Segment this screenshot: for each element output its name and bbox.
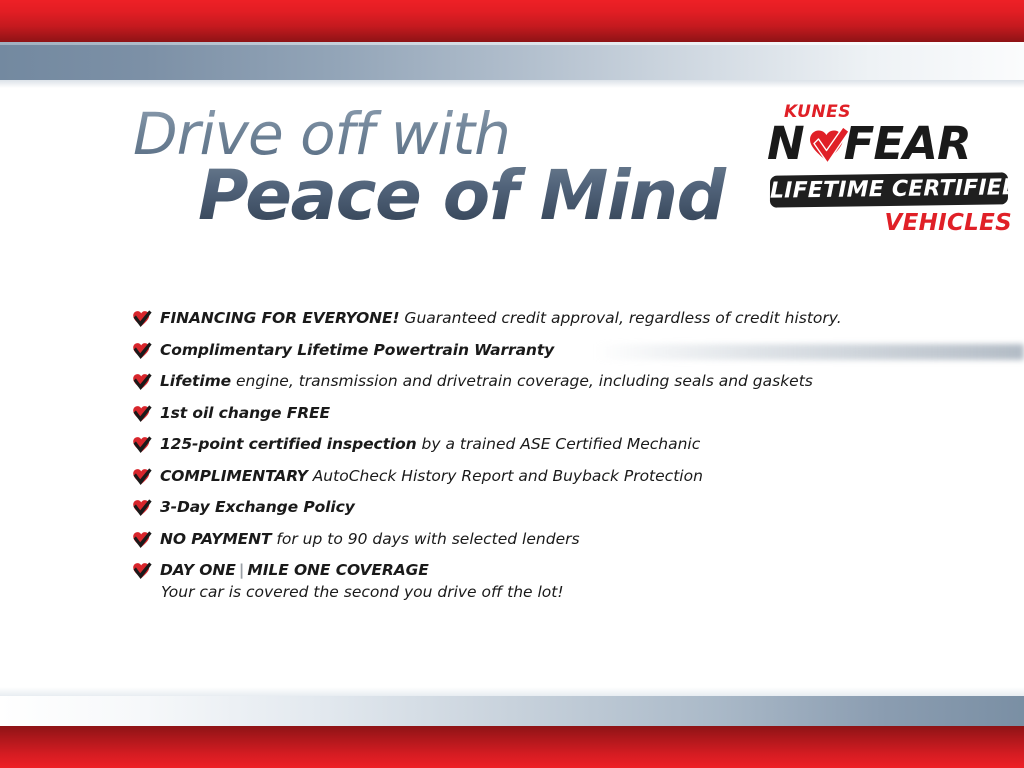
list-item: NO PAYMENT for up to 90 days with select… [131,529,931,551]
top-red-band [0,0,1024,42]
list-item: COMPLIMENTARY AutoCheck History Report a… [131,466,931,488]
list-item-day-one-body: DAY ONE|MILE ONE COVERAGE Your car is co… [160,560,564,603]
logo-wordmark: N FEAR [767,120,971,168]
list-item: Lifetime engine, transmission and drivet… [131,371,931,393]
list-item-normal: by a trained ASE Certified Mechanic [417,435,701,453]
list-item-bold: NO PAYMENT [160,530,271,548]
heart-check-bullet-icon [131,498,153,519]
heart-check-bullet-icon [131,435,153,456]
day-one-separator: | [236,561,248,579]
list-item-text: FINANCING FOR EVERYONE! Guaranteed credi… [160,308,842,329]
list-item-text: COMPLIMENTARY AutoCheck History Report a… [160,466,703,487]
list-item-text: NO PAYMENT for up to 90 days with select… [160,529,580,550]
list-item-normal: engine, transmission and drivetrain cove… [231,372,813,390]
list-item-bold: 125-point certified inspection [160,435,417,453]
list-item: 1st oil change FREE [131,403,931,425]
logo-certified-banner-text: LIFETIME CERTIFIED [770,172,1008,207]
list-item-bold: 1st oil change FREE [160,404,330,422]
logo-letter-n: N [767,120,804,168]
logo-word-vehicles: VEHICLES [884,210,1012,236]
heart-check-icon [802,123,852,173]
list-item-text: 125-point certified inspection by a trai… [160,434,700,455]
mile-one-label: MILE ONE COVERAGE [247,561,428,579]
list-item-text: Complimentary Lifetime Powertrain Warran… [160,340,554,361]
day-one-subtext: Your car is covered the second you drive… [161,582,564,603]
bottom-gray-gradient-band [0,696,1024,726]
list-item-normal: Guaranteed credit approval, regardless o… [400,309,842,327]
list-item-text: DAY ONE|MILE ONE COVERAGE [160,560,564,581]
day-one-label: DAY ONE [160,561,236,579]
list-item-text: Lifetime engine, transmission and drivet… [160,371,813,392]
bottom-red-band [0,726,1024,768]
heart-check-bullet-icon [131,467,153,488]
benefits-list: FINANCING FOR EVERYONE! Guaranteed credi… [131,308,931,613]
headline-line-1: Drive off with [133,104,753,164]
top-gray-gradient-band [0,42,1024,80]
list-item-normal: for up to 90 days with selected lenders [271,530,579,548]
top-band-fade [0,80,1024,88]
page-title: Drive off with Peace of Mind [133,104,753,234]
logo-o-slot [804,121,848,165]
list-item-text: 3-Day Exchange Policy [160,497,355,518]
list-item-bold: Complimentary Lifetime Powertrain Warran… [160,341,554,359]
headline-line-2: Peace of Mind [198,158,753,234]
list-item-bold: FINANCING FOR EVERYONE! [160,309,400,327]
heart-check-bullet-icon [131,404,153,425]
list-item-text: 1st oil change FREE [160,403,330,424]
heart-check-bullet-icon [131,372,153,393]
list-item-normal: AutoCheck History Report and Buyback Pro… [308,467,703,485]
logo-certified-banner: LIFETIME CERTIFIED [770,172,1008,207]
header-area: Drive off with Peace of Mind KUNES N FEA… [0,88,1024,263]
list-item: 125-point certified inspection by a trai… [131,434,931,456]
list-item-day-one: DAY ONE|MILE ONE COVERAGE Your car is co… [131,560,931,603]
list-item: FINANCING FOR EVERYONE! Guaranteed credi… [131,308,931,330]
heart-check-bullet-icon [131,341,153,362]
list-item-bold: Lifetime [160,372,231,390]
promo-flyer: Drive off with Peace of Mind KUNES N FEA… [0,0,1024,768]
logo-word-fear: FEAR [844,120,971,168]
kunes-no-fear-logo: KUNES N FEAR LIFETIME CERTIFIED VEHICLES [766,102,1014,242]
heart-check-bullet-icon [131,309,153,330]
list-item-bold: 3-Day Exchange Policy [160,498,355,516]
list-item: Complimentary Lifetime Powertrain Warran… [131,340,931,362]
heart-check-bullet-icon [131,530,153,551]
list-item: 3-Day Exchange Policy [131,497,931,519]
heart-check-bullet-icon [131,561,153,582]
list-item-bold: COMPLIMENTARY [160,467,308,485]
